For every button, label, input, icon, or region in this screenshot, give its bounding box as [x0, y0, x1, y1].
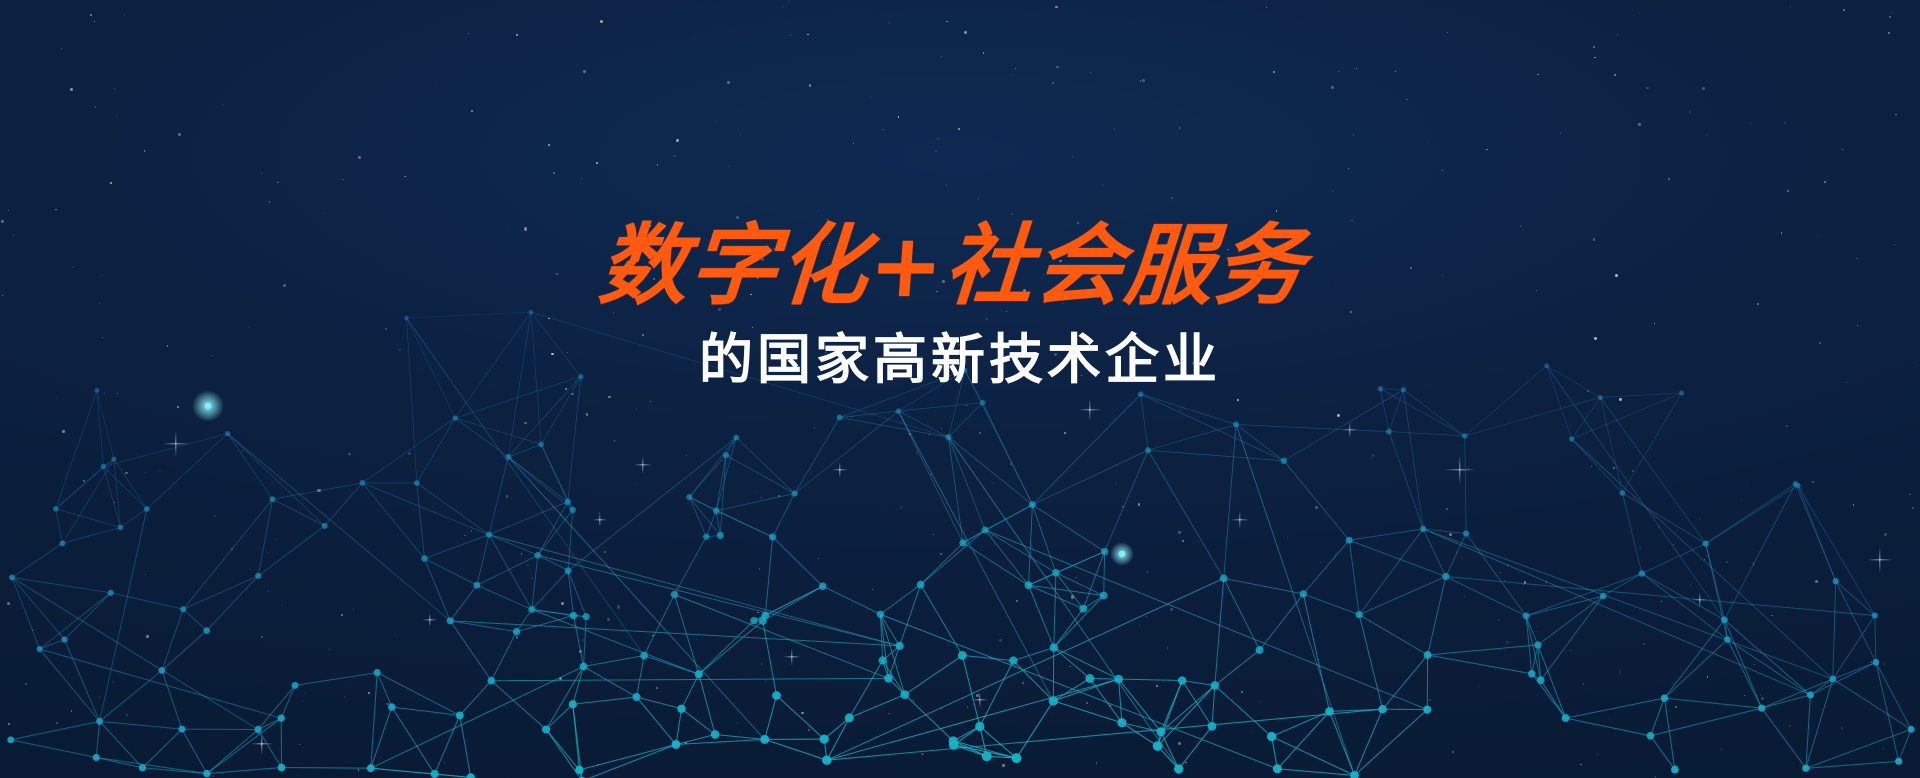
mesh-edge — [228, 434, 451, 621]
mesh-node — [569, 507, 575, 513]
mesh-edge — [1572, 393, 1682, 439]
mesh-edge — [546, 730, 582, 778]
star — [145, 574, 146, 575]
mesh-edge — [824, 718, 849, 739]
mesh-edge — [1642, 574, 1728, 640]
star — [1720, 749, 1721, 750]
mesh-edge — [62, 527, 120, 543]
mesh-edge — [532, 571, 568, 610]
mesh-node — [203, 627, 210, 634]
mesh-edge — [103, 434, 227, 467]
mesh-edge — [538, 555, 568, 570]
star — [607, 618, 610, 621]
mesh-edge — [258, 499, 272, 576]
mesh-edge — [1526, 574, 1642, 616]
mesh-edge — [765, 537, 772, 616]
star — [1185, 762, 1187, 764]
mesh-edge — [980, 726, 987, 756]
mesh-edge — [491, 632, 516, 681]
mesh-node — [1156, 727, 1165, 736]
mesh-node — [1829, 676, 1836, 683]
mesh-edge — [1236, 425, 1284, 461]
star — [1259, 701, 1261, 703]
mesh-edge — [541, 444, 573, 509]
mesh-edge — [1054, 596, 1104, 648]
mesh-node — [1679, 391, 1684, 396]
star — [1669, 711, 1670, 712]
star — [966, 405, 967, 406]
mesh-edge — [1179, 726, 1212, 769]
star — [1156, 685, 1158, 687]
mesh-edge — [689, 455, 726, 497]
star — [302, 700, 303, 701]
mesh-edge — [40, 593, 111, 649]
star — [561, 602, 564, 605]
star — [912, 699, 915, 702]
star — [1064, 432, 1066, 434]
mesh-node — [837, 415, 843, 421]
mesh-edge — [477, 555, 538, 585]
mesh-edge — [1032, 505, 1104, 552]
star — [1760, 649, 1761, 650]
mesh-node — [414, 480, 420, 486]
mesh-edge — [1355, 710, 1428, 776]
mesh-edge — [644, 595, 674, 656]
mesh-node — [452, 415, 458, 421]
mesh-edge — [1762, 708, 1806, 768]
mesh-edge — [1762, 695, 1811, 708]
mesh-edge — [1428, 645, 1538, 655]
mesh-edge — [1029, 585, 1104, 595]
mesh-node — [1346, 537, 1353, 544]
mesh-edge — [455, 418, 508, 457]
mesh-edge — [460, 681, 492, 716]
mesh-edge — [1148, 450, 1284, 461]
mesh-edge — [582, 745, 676, 778]
star — [571, 393, 574, 396]
star — [793, 557, 794, 558]
mesh-node — [144, 506, 150, 512]
mesh-edge — [689, 497, 772, 537]
mesh-node — [225, 431, 230, 436]
mesh-node — [94, 388, 99, 393]
star — [696, 639, 697, 640]
mesh-node — [159, 667, 166, 674]
star — [395, 634, 396, 635]
mesh-edge — [1053, 679, 1090, 701]
mesh-edge — [953, 741, 954, 745]
four-point-star-sparkle — [251, 733, 273, 755]
mesh-edge — [1572, 439, 1623, 493]
mesh-node — [1793, 481, 1799, 487]
mesh-edge — [1032, 394, 1140, 505]
mesh-node — [1895, 758, 1902, 765]
mesh-edge — [568, 502, 573, 510]
star — [1071, 595, 1074, 598]
mesh-edge — [765, 696, 777, 740]
mesh-node — [528, 606, 535, 613]
star — [506, 495, 508, 497]
mesh-edge — [56, 390, 97, 508]
mesh-node — [367, 764, 375, 772]
star — [524, 422, 527, 425]
star — [1661, 601, 1662, 602]
mesh-edge — [489, 457, 508, 535]
mesh-node — [1025, 581, 1033, 589]
star — [1170, 608, 1173, 611]
mesh-edge — [228, 434, 273, 500]
star — [1452, 751, 1454, 753]
mesh-edge — [1215, 578, 1224, 685]
mesh-edge — [574, 616, 587, 617]
star — [1570, 650, 1571, 651]
mesh-edge — [568, 510, 573, 571]
star — [1535, 631, 1537, 633]
mesh-edge — [1724, 620, 1810, 695]
mesh-edge — [1600, 397, 1622, 493]
mesh-edge — [1029, 505, 1033, 586]
star — [25, 683, 27, 685]
mesh-node — [896, 408, 902, 414]
mesh-edge — [1148, 450, 1224, 578]
mesh-node — [360, 480, 366, 486]
mesh-node — [1562, 714, 1570, 722]
mesh-node — [1350, 771, 1359, 778]
mesh-node — [1873, 659, 1880, 666]
star — [1139, 625, 1140, 626]
mesh-edge — [880, 614, 904, 694]
star — [818, 558, 819, 559]
mesh-node — [671, 591, 678, 598]
mesh-edge — [100, 509, 147, 721]
mesh-node — [1267, 732, 1276, 741]
mesh-edge — [574, 616, 584, 667]
mesh-edge — [584, 656, 645, 667]
star — [1323, 685, 1325, 687]
mesh-edge — [674, 537, 706, 595]
mesh-node — [820, 734, 829, 743]
mesh-edge — [720, 455, 726, 535]
four-point-star-sparkle — [1342, 422, 1358, 438]
star — [1468, 468, 1469, 469]
star — [1707, 676, 1708, 677]
mesh-edge — [1029, 573, 1056, 585]
mesh-edge — [281, 685, 295, 718]
star — [1871, 661, 1872, 662]
star — [358, 769, 360, 771]
mesh-node — [569, 700, 577, 708]
mesh-edge — [824, 739, 827, 760]
star — [1478, 686, 1479, 687]
mesh-edge — [1664, 698, 1675, 770]
star — [1075, 577, 1076, 578]
mesh-edge — [883, 646, 900, 661]
mesh-edge — [676, 739, 765, 744]
mesh-edge — [953, 741, 987, 756]
star — [1613, 467, 1615, 469]
star — [808, 729, 811, 732]
mesh-edge — [985, 505, 1032, 530]
star — [521, 553, 523, 555]
mesh-edge — [541, 444, 568, 501]
mesh-node — [1378, 705, 1386, 713]
star — [1232, 758, 1233, 759]
mesh-edge — [1541, 680, 1566, 718]
star — [8, 723, 10, 725]
mesh-edge — [1423, 529, 1833, 679]
mesh-edge — [1423, 529, 1466, 534]
mesh-edge — [258, 685, 295, 729]
mesh-node — [421, 555, 427, 561]
mesh-node — [769, 533, 776, 540]
mesh-node — [374, 669, 381, 676]
mesh-edge — [716, 494, 795, 511]
mesh-node — [1325, 707, 1334, 716]
mesh-edge — [1161, 681, 1182, 732]
star — [368, 692, 370, 694]
mesh-edge — [1806, 761, 1899, 768]
star — [146, 635, 149, 638]
four-point-star-sparkle — [972, 692, 988, 708]
mesh-edge — [1465, 436, 1466, 534]
mesh-edge — [1541, 596, 1603, 680]
star — [408, 452, 411, 455]
mesh-edge — [716, 438, 736, 511]
star — [56, 397, 57, 398]
mesh-edge — [207, 718, 281, 773]
star — [114, 502, 115, 503]
star — [1111, 670, 1112, 671]
mesh-edge — [948, 403, 982, 437]
mesh-node — [761, 612, 769, 620]
mesh-edge — [417, 418, 455, 483]
mesh-edge — [362, 483, 424, 559]
mesh-edge — [103, 459, 114, 466]
mesh-edge — [985, 530, 1056, 573]
mesh-node — [759, 617, 767, 625]
mesh-node — [101, 464, 106, 469]
mesh-edge — [1215, 686, 1272, 737]
star — [1096, 762, 1097, 763]
mesh-edge — [1224, 578, 1304, 594]
mesh-node — [1117, 718, 1126, 727]
mesh-edge — [362, 483, 489, 535]
mesh-node — [1647, 732, 1655, 740]
star — [1546, 581, 1548, 583]
mesh-edge — [689, 497, 706, 537]
mesh-edge — [1158, 746, 1179, 769]
mesh-edge — [980, 661, 1014, 727]
mesh-edge — [682, 674, 699, 709]
mesh-edge — [1013, 648, 1053, 661]
mesh-edge — [1833, 616, 1875, 680]
star — [1852, 747, 1854, 749]
mesh-edge — [763, 586, 823, 621]
star — [1596, 753, 1598, 755]
mesh-edge — [1664, 620, 1724, 698]
mesh-edge — [1572, 439, 1833, 679]
star — [261, 636, 263, 638]
mesh-edge — [362, 418, 455, 483]
mesh-edge — [1600, 397, 1705, 543]
mesh-node — [388, 703, 396, 711]
star — [83, 480, 85, 482]
mesh-edge — [371, 768, 471, 777]
star — [444, 762, 445, 763]
mesh-edge — [777, 696, 825, 740]
mesh-edge — [1795, 484, 1835, 581]
star — [32, 629, 33, 630]
mesh-edge — [1284, 461, 1349, 540]
star — [888, 713, 890, 715]
mesh-edge — [1017, 701, 1054, 758]
mesh-node — [431, 770, 439, 778]
star — [1002, 764, 1005, 767]
star — [940, 553, 942, 555]
mesh-node — [1233, 422, 1239, 428]
mesh-node — [1420, 526, 1426, 532]
mesh-edge — [207, 768, 282, 774]
star — [1016, 600, 1018, 602]
star — [260, 743, 262, 745]
mesh-edge — [880, 585, 920, 615]
star — [1315, 506, 1318, 509]
star — [1524, 581, 1527, 584]
mesh-edge — [1423, 529, 1446, 577]
mesh-edge — [1359, 577, 1446, 615]
star — [929, 434, 930, 435]
mesh-node — [1101, 548, 1108, 555]
star — [213, 775, 215, 777]
star — [1178, 531, 1181, 534]
mesh-edge — [1706, 486, 1798, 544]
mesh-edge — [508, 444, 541, 457]
mesh-edge — [880, 614, 882, 660]
mesh-edge — [1119, 679, 1122, 723]
mesh-edge — [103, 467, 147, 510]
mesh-node — [59, 540, 65, 546]
mesh-edge — [921, 543, 963, 585]
mesh-node — [1012, 753, 1022, 763]
mesh-edge — [1380, 389, 1403, 390]
mesh-edge — [1029, 585, 1084, 609]
star — [1583, 683, 1585, 685]
star — [1122, 506, 1124, 508]
mesh-node — [632, 693, 640, 701]
mesh-node — [1386, 429, 1392, 435]
star — [1838, 591, 1839, 592]
mesh-edge — [1359, 529, 1423, 615]
mesh-edge — [273, 483, 363, 499]
mesh-edge — [100, 670, 162, 721]
mesh-edge — [573, 704, 582, 778]
star — [1498, 619, 1500, 621]
mesh-edge — [1349, 540, 1446, 576]
star — [1237, 399, 1239, 401]
star — [145, 472, 147, 474]
mesh-edge — [1538, 645, 1541, 680]
mesh-edge — [273, 499, 325, 526]
mesh-edge — [56, 509, 121, 528]
star — [1241, 691, 1243, 693]
mesh-edge — [65, 640, 100, 722]
mesh-edge — [1013, 661, 1053, 701]
mesh-edge — [1603, 574, 1642, 597]
mesh-node — [322, 523, 328, 529]
four-point-star-sparkle — [1445, 455, 1475, 485]
mesh-edge — [898, 411, 963, 543]
mesh-edge — [674, 595, 698, 675]
mesh-edge — [1526, 616, 1541, 680]
star — [1053, 712, 1054, 713]
mesh-node — [1211, 681, 1219, 689]
mesh-node — [1537, 676, 1545, 684]
mesh-edge — [921, 585, 963, 656]
mesh-node — [505, 454, 511, 460]
mesh-edge — [517, 616, 574, 632]
mesh-node — [1639, 570, 1645, 576]
mesh-edge — [1664, 640, 1727, 699]
mesh-node — [1442, 573, 1449, 580]
mesh-edge — [1389, 432, 1465, 436]
mesh-edge — [40, 640, 65, 650]
mesh-node — [111, 457, 116, 462]
mesh-edge — [900, 585, 921, 646]
mesh-edge — [1547, 366, 1725, 620]
star — [1699, 518, 1700, 519]
star — [386, 703, 389, 706]
mesh-edge — [963, 530, 985, 543]
mesh-edge — [1148, 425, 1236, 451]
mesh-edge — [56, 459, 114, 509]
mesh-edge — [1806, 729, 1911, 768]
mesh-edge — [258, 730, 281, 768]
mesh-edge — [921, 530, 986, 585]
mesh-edge — [96, 758, 142, 768]
star — [999, 639, 1002, 642]
mesh-edge — [898, 403, 982, 411]
mesh-edge — [715, 735, 765, 740]
mesh-node — [723, 452, 729, 458]
star — [740, 731, 741, 732]
four-point-star-sparkle — [1231, 511, 1249, 529]
star — [617, 605, 620, 608]
mesh-edge — [948, 437, 963, 543]
mesh-node — [975, 722, 984, 731]
mesh-edge — [1650, 736, 1675, 770]
star — [986, 763, 988, 765]
mesh-node — [1050, 643, 1058, 651]
mesh-edge — [1428, 577, 1446, 656]
mesh-node — [180, 606, 186, 612]
mesh-node — [278, 764, 286, 772]
star — [933, 534, 934, 535]
mesh-edge — [392, 707, 460, 715]
mesh-edge — [827, 679, 1119, 760]
mesh-node — [1256, 646, 1264, 654]
mesh-edge — [371, 707, 392, 768]
mesh-edge — [1810, 679, 1832, 695]
mesh-edge — [773, 494, 795, 538]
star — [1587, 390, 1589, 392]
mesh-node — [750, 617, 757, 624]
mesh-edge — [1104, 552, 1105, 596]
mesh-node — [270, 496, 276, 502]
mesh-edge — [114, 459, 121, 527]
mesh-edge — [12, 543, 62, 577]
star — [282, 604, 284, 606]
mesh-node — [982, 751, 992, 761]
